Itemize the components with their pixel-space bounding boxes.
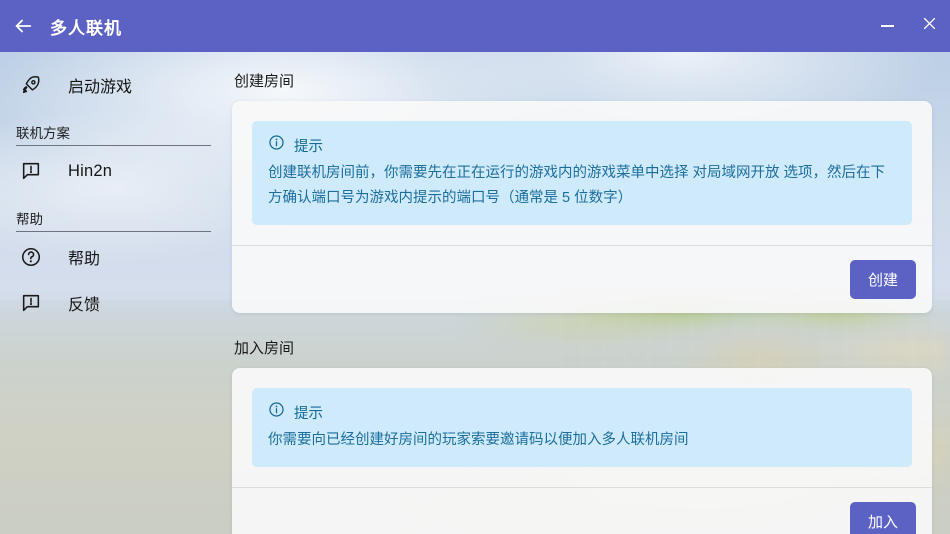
create-room-card-footer: 创建 <box>232 245 932 313</box>
minimize-button[interactable] <box>866 0 908 52</box>
sidebar-item-launch-game[interactable]: 启动游戏 <box>0 62 222 108</box>
close-icon <box>922 16 937 36</box>
join-room-button[interactable]: 加入 <box>850 502 916 534</box>
join-room-alert-header: 提示 <box>268 401 896 423</box>
sidebar-item-hin2n[interactable]: Hin2n <box>0 148 222 194</box>
sidebar: 启动游戏 联机方案 Hin2n 帮助 帮助 <box>0 52 222 534</box>
join-room-alert-text: 你需要向已经创建好房间的玩家索要邀请码以便加入多人联机房间 <box>268 428 896 453</box>
join-room-card-body: 提示 你需要向已经创建好房间的玩家索要邀请码以便加入多人联机房间 <box>232 368 932 487</box>
title-bar: 多人联机 <box>0 0 950 52</box>
rocket-icon <box>20 74 52 96</box>
join-room-card-footer: 加入 <box>232 487 932 534</box>
join-room-alert: 提示 你需要向已经创建好房间的玩家索要邀请码以便加入多人联机房间 <box>252 388 912 467</box>
join-room-alert-heading: 提示 <box>294 402 323 423</box>
create-room-alert-heading: 提示 <box>294 135 323 156</box>
sidebar-item-help[interactable]: 帮助 <box>0 234 222 280</box>
chat-alert-icon <box>20 292 52 314</box>
window-title: 多人联机 <box>50 14 122 39</box>
join-room-card: 提示 你需要向已经创建好房间的玩家索要邀请码以便加入多人联机房间 加入 <box>232 368 932 534</box>
sidebar-section-header-help: 帮助 <box>16 208 211 232</box>
back-button[interactable] <box>0 0 46 52</box>
info-circle-icon <box>268 401 285 423</box>
create-room-card: 提示 创建联机房间前，你需要先在正在运行的游戏内的游戏菜单中选择 对局域网开放 … <box>232 101 932 313</box>
sidebar-item-label: 启动游戏 <box>68 73 132 97</box>
create-room-card-body: 提示 创建联机房间前，你需要先在正在运行的游戏内的游戏菜单中选择 对局域网开放 … <box>232 101 932 245</box>
create-room-alert-text: 创建联机房间前，你需要先在正在运行的游戏内的游戏菜单中选择 对局域网开放 选项，… <box>268 161 896 211</box>
chat-alert-icon <box>20 160 52 182</box>
sidebar-item-label: Hin2n <box>68 162 112 181</box>
help-circle-icon <box>20 246 52 268</box>
sidebar-item-label: 反馈 <box>68 291 100 315</box>
sidebar-item-feedback[interactable]: 反馈 <box>0 280 222 326</box>
create-room-alert: 提示 创建联机房间前，你需要先在正在运行的游戏内的游戏菜单中选择 对局域网开放 … <box>252 121 912 225</box>
arrow-left-icon <box>12 15 34 37</box>
join-room-section-title: 加入房间 <box>234 337 932 358</box>
main-content: 创建房间 提示 创建联机房间前，你需要先在正在运行的游 <box>222 52 950 534</box>
close-button[interactable] <box>908 0 950 52</box>
create-room-alert-header: 提示 <box>268 134 896 156</box>
sidebar-item-label: 帮助 <box>68 245 100 269</box>
window-controls <box>866 0 950 52</box>
info-circle-icon <box>268 134 285 156</box>
app-window: 多人联机 <box>0 0 950 534</box>
sidebar-section-header-network: 联机方案 <box>16 122 211 146</box>
minimize-icon <box>881 25 894 27</box>
create-room-button[interactable]: 创建 <box>850 260 916 299</box>
create-room-section-title: 创建房间 <box>234 70 932 91</box>
